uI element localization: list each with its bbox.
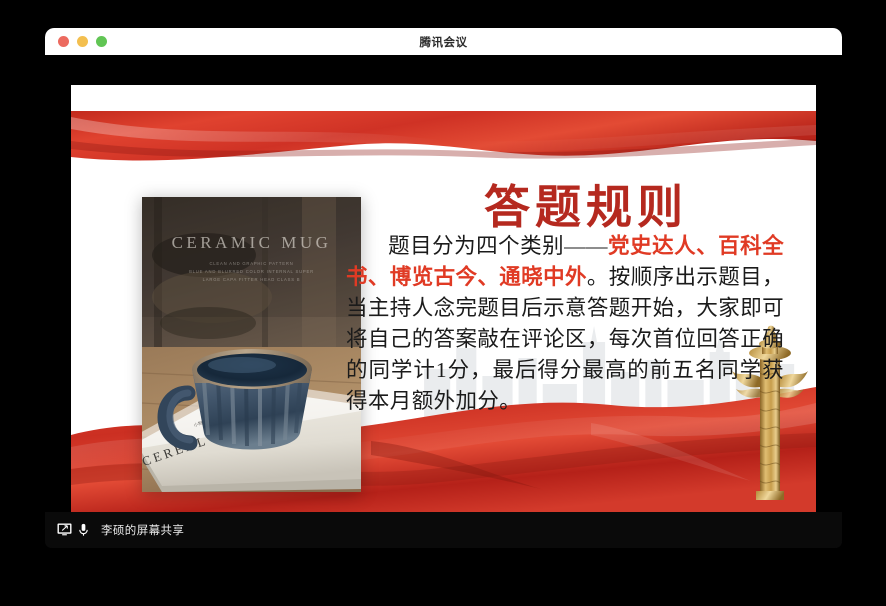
- mug-photo: CEREAL 小物 · 生活: [142, 197, 361, 492]
- mug-photo-artwork: CEREAL 小物 · 生活: [142, 197, 361, 492]
- slide-body-text: 题目分为四个类别——党史达人、百科全书、博览古今、通晓中外。按顺序出示题目，当主…: [346, 231, 784, 417]
- screen-share-status-bar: 李硕的屏幕共享: [45, 512, 842, 548]
- window-title: 腾讯会议: [45, 34, 842, 50]
- microphone-icon: [76, 523, 91, 537]
- screen-share-icon: [57, 523, 72, 537]
- window-titlebar[interactable]: 腾讯会议: [45, 28, 842, 55]
- shared-screen-canvas[interactable]: CEREAL 小物 · 生活: [45, 55, 842, 548]
- slide-title: 答题规则: [401, 171, 771, 237]
- screen-share-label: 李硕的屏幕共享: [101, 522, 184, 538]
- presentation-slide: CEREAL 小物 · 生活: [71, 85, 816, 512]
- red-silk-ribbon-top: [71, 111, 816, 173]
- body-part-plain-1: 题目分为四个类别——: [388, 234, 608, 258]
- slide-letterbox-top: [71, 55, 816, 85]
- tencent-meeting-window: 腾讯会议: [45, 28, 842, 548]
- desktop-background: 腾讯会议: [0, 0, 886, 606]
